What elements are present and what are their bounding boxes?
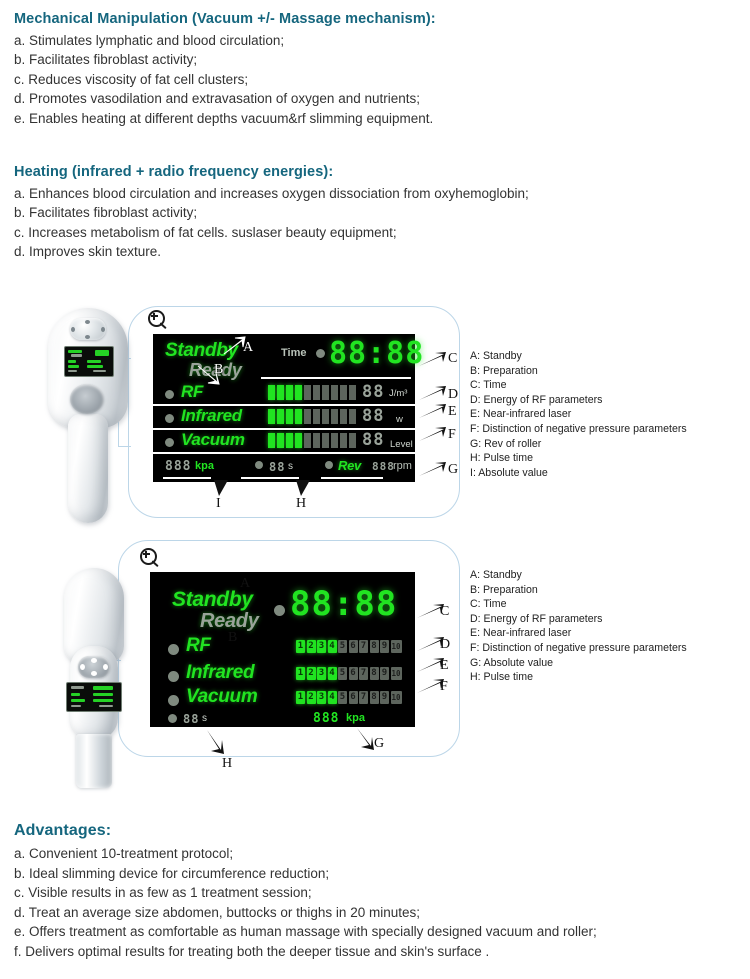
marker-h-panel-2: H: [222, 756, 232, 772]
section-line: b. Facilitates fibroblast activity;: [14, 203, 744, 222]
panel1-rf-led: [165, 390, 174, 399]
panel1-rf-bargraph: [268, 385, 356, 400]
panel1-pressure-unit: kpa: [195, 460, 214, 472]
panel1-pulse-value: 88: [269, 460, 285, 474]
arrow-g-panel-1: [418, 462, 448, 478]
panel2-row-name-rf: RF: [186, 635, 211, 657]
panel1-pressure-value: 888: [165, 459, 191, 474]
section-line: e. Enables heating at different depths v…: [14, 109, 744, 128]
panel2-infrared-led: [168, 671, 179, 682]
legend-item: A: Standby: [470, 349, 687, 364]
panel1-time-value: 88:88: [329, 336, 424, 371]
legend-item: C: Time: [470, 378, 687, 393]
panel1-infrared-unit: w: [396, 414, 403, 425]
legend-item: D: Energy of RF parameters: [470, 393, 687, 408]
panel2-row-name-vacuum: Vacuum: [186, 686, 257, 708]
probe-handpiece-image: [56, 568, 132, 790]
legend-item: G: Rev of roller: [470, 437, 687, 452]
legend-item: H: Pulse time: [470, 670, 687, 685]
marker-a-panel-2: A: [240, 576, 250, 592]
legend-item: I: Absolute value: [470, 466, 687, 481]
panel1-row-name-vacuum: Vacuum: [181, 430, 245, 450]
handpiece-screen: [64, 346, 114, 377]
section-line: c. Reduces viscosity of fat cell cluster…: [14, 70, 744, 89]
marker-f-panel-1: F: [448, 427, 456, 443]
panel2-row-name-infrared: Infrared: [186, 662, 254, 684]
roller-handpiece-image: [44, 308, 140, 523]
zoom-in-icon: [140, 548, 160, 568]
section-line: e. Offers treatment as comfortable as hu…: [14, 922, 750, 942]
section-heading: Advantages:: [14, 822, 750, 840]
marker-d-panel-1: D: [448, 387, 458, 403]
panel1-time-led: [316, 349, 325, 358]
marker-g-panel-2: G: [374, 736, 384, 752]
panel1-pulse-unit: s: [288, 461, 293, 472]
section-advantages: Advantages: a. Convenient 10-treatment p…: [14, 822, 750, 962]
panel2-pulse-led: [168, 714, 177, 723]
lcd-panel-1: Standby Ready Time 88:88 RF 88 J/m³ Infr…: [153, 334, 415, 482]
arrow-a-panel-1: [222, 336, 248, 356]
panel2-pressure-unit: kpa: [346, 712, 365, 724]
panel1-vacuum-bargraph: [268, 433, 356, 448]
section-line: c. Increases metabolism of fat cells. su…: [14, 223, 744, 242]
panel1-vacuum-led: [165, 438, 174, 447]
legend-item: H: Pulse time: [470, 451, 687, 466]
marker-b-panel-2: B: [228, 630, 237, 646]
marker-f-panel-2: F: [440, 679, 448, 695]
panel2-vacuum-scale: 12345678910: [296, 691, 402, 704]
section-line: a. Stimulates lymphatic and blood circul…: [14, 31, 744, 50]
panel1-time-label: Time: [281, 347, 306, 359]
panel2-pressure-value: 888: [313, 711, 339, 726]
section-line: d. Promotes vasodilation and extravasati…: [14, 89, 744, 108]
section-line: d. Improves skin texture.: [14, 242, 744, 261]
panel2-time-led: [274, 605, 285, 616]
legend-item: E: Near-infrared laser: [470, 407, 687, 422]
panel2-infrared-scale: 12345678910: [296, 667, 402, 680]
marker-c-panel-1: C: [448, 351, 457, 367]
section-line: a. Enhances blood circulation and increa…: [14, 184, 744, 203]
section-line: b. Facilitates fibroblast activity;: [14, 50, 744, 69]
section-line: b. Ideal slimming device for circumferen…: [14, 864, 750, 884]
legend-item: G: Absolute value: [470, 656, 687, 671]
marker-c-panel-2: C: [440, 604, 449, 620]
panel1-infrared-bargraph: [268, 409, 356, 424]
marker-e-panel-2: E: [440, 658, 449, 674]
panel1-row-name-infrared: Infrared: [181, 406, 242, 426]
panel2-vacuum-led: [168, 695, 179, 706]
arrow-f-panel-1: [418, 427, 448, 443]
panel1-rev-unit: rpm: [393, 460, 412, 472]
panel2-rf-led: [168, 644, 179, 655]
legend-item: D: Energy of RF parameters: [470, 612, 687, 627]
marker-g-panel-1: G: [448, 462, 458, 478]
legend-item: B: Preparation: [470, 583, 687, 598]
arrow-c-panel-1: [418, 352, 448, 368]
section-line: d. Treat an average size abdomen, buttoc…: [14, 903, 750, 923]
legend-item: F: Distinction of negative pressure para…: [470, 641, 687, 656]
marker-i-panel-1: I: [216, 496, 221, 512]
panel2-time-value: 88:88: [290, 584, 397, 624]
arrow-e-panel-1: [418, 404, 448, 420]
section-heating: Heating (infrared + radio frequency ener…: [14, 164, 744, 262]
arrow-d-panel-1: [418, 386, 448, 402]
panel1-pulse-led: [255, 461, 263, 469]
panel1-rev-led: [325, 461, 333, 469]
panel1-rf-value: 88: [362, 382, 384, 402]
legend-panel-1: A: Standby B: Preparation C: Time D: Ene…: [470, 349, 687, 480]
marker-h-panel-1: H: [296, 496, 306, 512]
section-line: c. Visible results in as few as 1 treatm…: [14, 883, 750, 903]
marker-e-panel-1: E: [448, 404, 457, 420]
handpiece-screen: [66, 682, 122, 712]
panel2-pulse-value: 88: [183, 712, 199, 726]
legend-item: F: Distinction of negative pressure para…: [470, 422, 687, 437]
section-mechanical-manipulation: Mechanical Manipulation (Vacuum +/- Mass…: [14, 11, 744, 128]
panel2-rf-scale: 12345678910: [296, 640, 402, 653]
legend-item: A: Standby: [470, 568, 687, 583]
zoom-in-icon: [148, 310, 168, 330]
panel1-rev-value: 888: [372, 460, 395, 473]
panel1-rf-unit: J/m³: [389, 388, 407, 399]
legend-item: C: Time: [470, 597, 687, 612]
section-heading: Mechanical Manipulation (Vacuum +/- Mass…: [14, 11, 744, 27]
panel1-infrared-led: [165, 414, 174, 423]
panel2-pulse-unit: s: [202, 713, 207, 724]
section-line: a. Convenient 10-treatment protocol;: [14, 844, 750, 864]
section-line: f. Delivers optimal results for treating…: [14, 942, 750, 962]
section-heading: Heating (infrared + radio frequency ener…: [14, 164, 744, 180]
marker-d-panel-2: D: [440, 637, 450, 653]
arrow-b-panel-1: [196, 364, 222, 386]
legend-panel-2: A: Standby B: Preparation C: Time D: Ene…: [470, 568, 687, 685]
panel1-vacuum-unit: Level: [390, 439, 413, 450]
panel1-infrared-value: 88: [362, 406, 384, 426]
legend-item: B: Preparation: [470, 364, 687, 379]
lcd-panel-2: Standby Ready 88:88 RF 12345678910 Infra…: [150, 572, 415, 727]
legend-item: E: Near-infrared laser: [470, 626, 687, 641]
panel1-rev-label: Rev: [338, 458, 361, 473]
arrow-h-panel-2: [205, 730, 227, 756]
panel1-vacuum-value: 88: [362, 430, 384, 450]
